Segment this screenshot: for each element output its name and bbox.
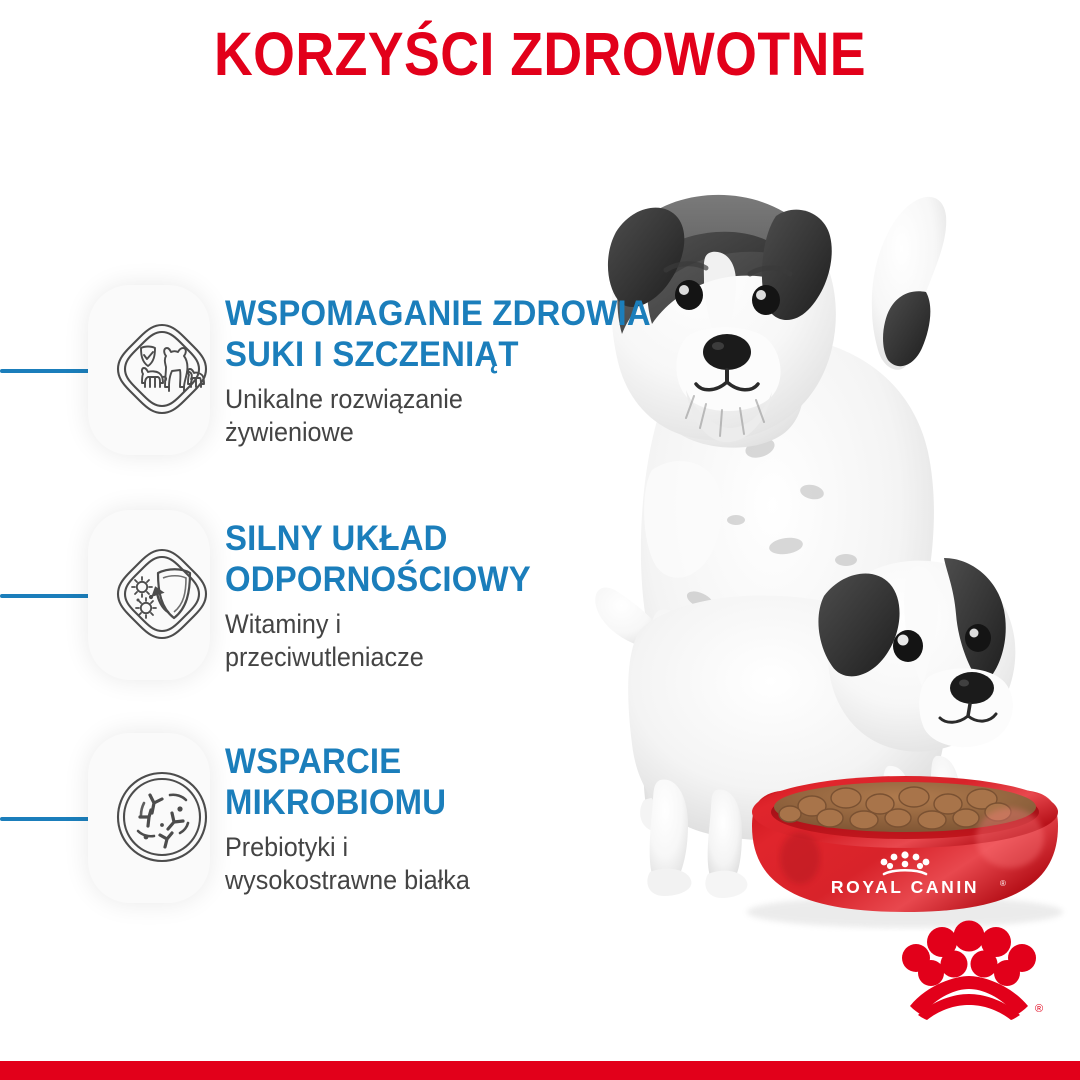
trademark-symbol: ® [1035, 1003, 1043, 1015]
page-title: KORZYŚCI ZDROWOTNE [65, 22, 1015, 86]
benefit-subtext-2: Witaminy i przeciwutleniacze [225, 608, 657, 674]
benefit-heading-3: WSPARCIE MIKROBIOMU [225, 741, 653, 824]
connector-line-2 [0, 594, 90, 598]
benefit-text-3: WSPARCIE MIKROBIOMU Prebiotyki i wysokos… [225, 741, 680, 897]
svg-text:®: ® [1000, 879, 1006, 888]
benefit-heading-2: SILNY UKŁAD ODPORNOŚCIOWY [225, 518, 653, 601]
svg-text:ROYAL CANIN: ROYAL CANIN [831, 877, 979, 897]
dog-and-puppies-shield-icon [106, 313, 218, 425]
immunity-shield-germs-icon [106, 538, 218, 650]
benefit-item-3[interactable]: WSPARCIE MIKROBIOMU Prebiotyki i wysokos… [0, 733, 680, 903]
benefit-item-2[interactable]: SILNY UKŁAD ODPORNOŚCIOWY Witaminy i prz… [0, 510, 680, 680]
bottom-brand-bar [0, 1061, 1080, 1080]
benefit-text-2: SILNY UKŁAD ODPORNOŚCIOWY Witaminy i prz… [225, 518, 680, 674]
connector-line-3 [0, 817, 90, 821]
royal-canin-crown-logo: ® [894, 916, 1044, 1022]
connector-line-1 [0, 369, 90, 373]
benefit-item-1[interactable]: WSPOMAGANIE ZDROWIA SUKI I SZCZENIĄT Uni… [0, 285, 680, 455]
benefit-heading-1: WSPOMAGANIE ZDROWIA SUKI I SZCZENIĄT [225, 293, 653, 376]
poster-canvas: KORZYŚCI ZDROWOTNE [0, 0, 1080, 1080]
benefit-subtext-3: Prebiotyki i wysokostrawne białka [225, 831, 657, 897]
benefit-subtext-1: Unikalne rozwiązanie żywieniowe [225, 383, 657, 449]
microbiome-bacteria-circle-icon [106, 761, 218, 873]
benefit-text-1: WSPOMAGANIE ZDROWIA SUKI I SZCZENIĄT Uni… [225, 293, 680, 449]
